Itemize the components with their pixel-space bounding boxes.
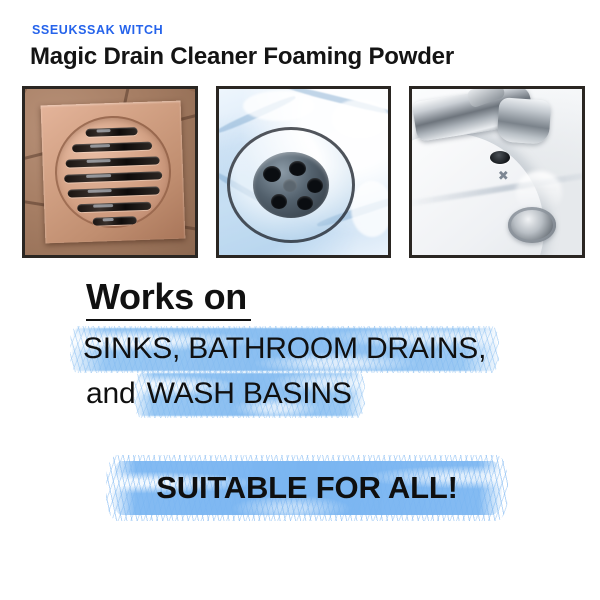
sink-bowl [227, 127, 355, 243]
claim-line-1: SINKS, BATHROOM DRAINS, [80, 334, 489, 364]
works-on-heading: Works on [86, 278, 247, 316]
product-photo-strip: ✖ [22, 86, 585, 258]
claim-line-1-highlight: SINKS, BATHROOM DRAINS, [80, 334, 489, 364]
drain-strainer [253, 152, 329, 218]
strainer-hole [271, 194, 287, 209]
strainer-hole [297, 196, 313, 210]
drain-slot [68, 186, 160, 197]
cross-mark-icon: ✖ [496, 169, 510, 183]
works-on-underline [86, 319, 251, 321]
brand-name: SSEUKSSAK WITCH [32, 24, 163, 37]
strainer-hole [263, 166, 281, 182]
strainer-hole [289, 161, 306, 176]
faucet-spout [497, 97, 552, 145]
drain-plate [41, 101, 186, 244]
water-splash [331, 99, 389, 139]
drain-slot [64, 171, 162, 182]
drain-slot [93, 216, 137, 226]
photo-copper-floor-drain-image [25, 89, 195, 255]
photo-white-wash-basin-image: ✖ [412, 89, 582, 255]
photo-sink-drain-water-image [219, 89, 389, 255]
banner-label: SUITABLE FOR ALL! [112, 455, 502, 521]
claim-line-2: and WASH BASINS [86, 379, 355, 409]
suitable-for-all-banner: SUITABLE FOR ALL! [112, 455, 502, 521]
drain-slot [77, 202, 151, 213]
page-title: Magic Drain Cleaner Foaming Powder [30, 43, 454, 71]
strainer-hole [307, 178, 323, 193]
photo-copper-floor-drain [22, 86, 198, 258]
drain-slot [72, 142, 152, 153]
drain-grate-circle [53, 114, 173, 230]
basin-highlight [516, 171, 562, 211]
product-feature-graphic: SSEUKSSAK WITCH Magic Drain Cleaner Foam… [0, 0, 600, 600]
water-splash [243, 91, 315, 121]
photo-sink-drain-water [216, 86, 392, 258]
claim-line-2-highlight: WASH BASINS [144, 379, 355, 409]
basin-drain [508, 207, 556, 243]
strainer-hub [283, 179, 297, 192]
photo-white-wash-basin: ✖ [409, 86, 585, 258]
drain-slot [66, 156, 160, 167]
water-splash [351, 181, 389, 237]
drain-slot [85, 127, 137, 137]
